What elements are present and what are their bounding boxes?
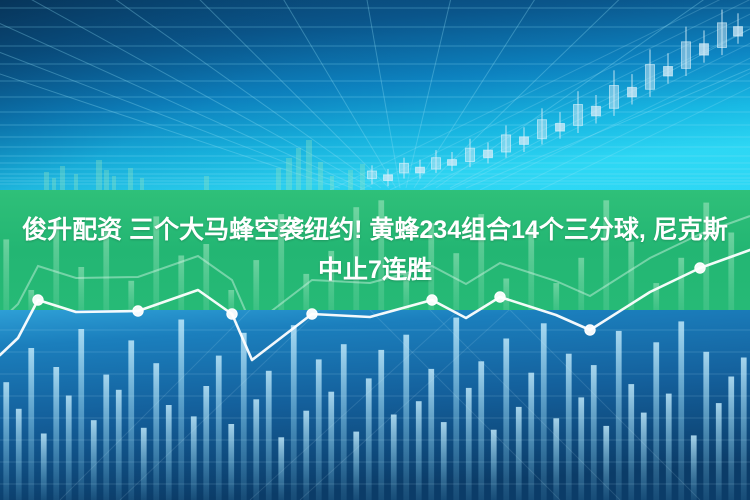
green-headline-band <box>0 190 750 326</box>
upper-sky-panel <box>0 0 750 190</box>
background-artwork <box>0 0 750 500</box>
stock-market-banner: 俊升配资 三个大马蜂空袭纽约! 黄蜂234组合14个三分球, 尼克斯中止7连胜 <box>0 0 750 500</box>
lower-bar-panel <box>0 300 750 500</box>
